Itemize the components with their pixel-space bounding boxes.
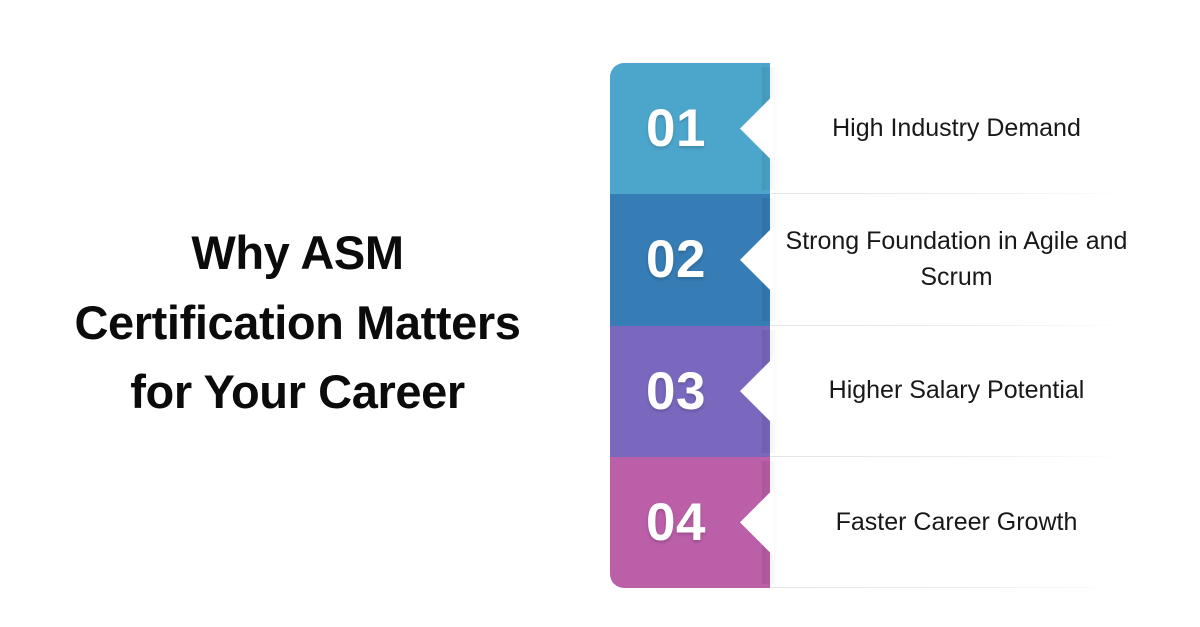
page-title: Why ASM Certification Matters for Your C… [0,218,595,427]
step-label-cell: High Industry Demand [770,63,1135,194]
step-label-text: Strong Foundation in Agile and Scrum [784,224,1129,295]
step-label-text: Faster Career Growth [836,505,1078,541]
list-item[interactable]: 02 Strong Foundation in Agile and Scrum [610,194,1135,325]
step-label-cell: Faster Career Growth [770,457,1135,588]
step-number-label: 03 [646,365,706,418]
step-number-label: 01 [646,102,706,155]
page-title-line-3: for Your Career [0,357,595,427]
step-label-text: Higher Salary Potential [829,373,1085,409]
step-number-label: 02 [646,233,706,286]
list-item[interactable]: 04 Faster Career Growth [610,457,1135,588]
steps-list: 01 High Industry Demand 02 Strong Founda… [610,63,1135,588]
page-title-line-2: Certification Matters [0,288,595,358]
step-number-label: 04 [646,496,706,549]
step-label-text: High Industry Demand [832,111,1081,147]
step-label-cell: Higher Salary Potential [770,326,1135,457]
infographic-canvas: Why ASM Certification Matters for Your C… [0,0,1200,627]
page-title-line-1: Why ASM [0,218,595,288]
list-item[interactable]: 03 Higher Salary Potential [610,326,1135,457]
step-label-cell: Strong Foundation in Agile and Scrum [770,194,1135,325]
list-item[interactable]: 01 High Industry Demand [610,63,1135,194]
